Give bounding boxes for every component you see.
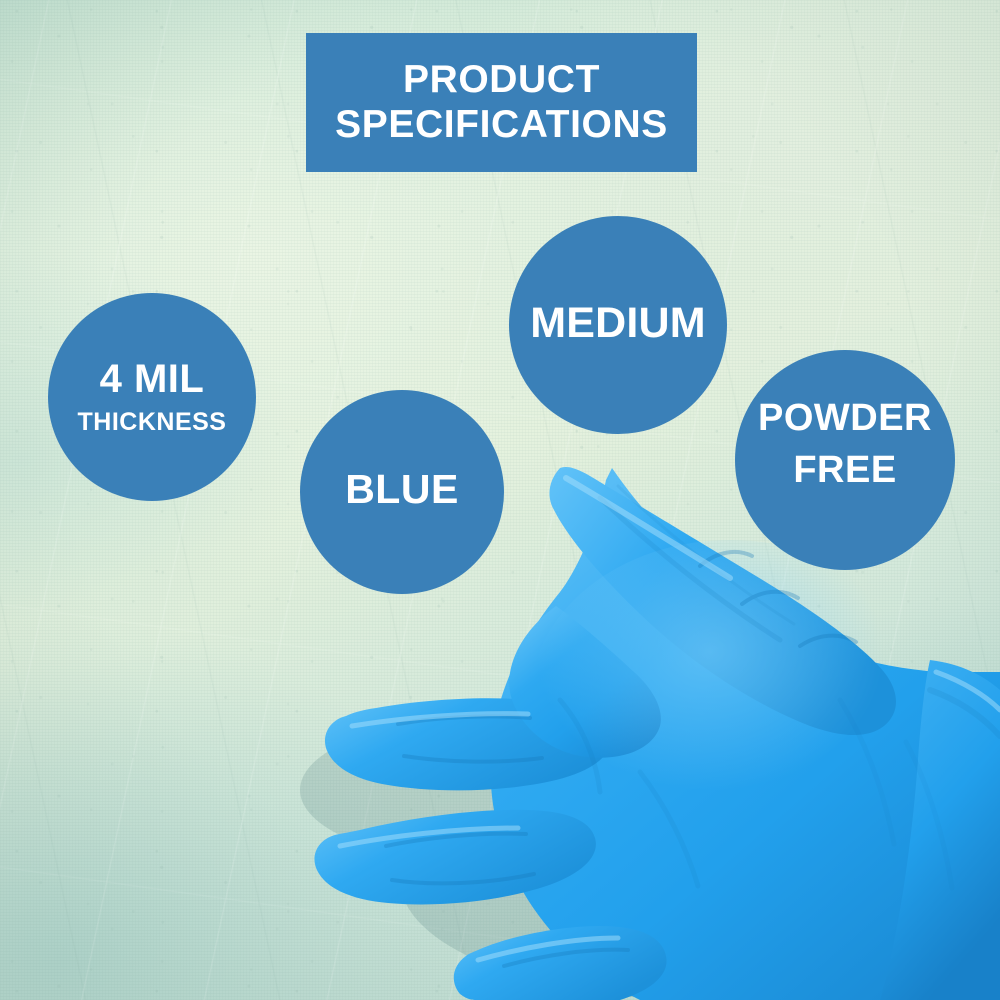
spec-powder-value-line-1: POWDER — [758, 399, 932, 437]
spec-badge-color: BLUE — [300, 390, 504, 594]
spec-badge-powder-free: POWDER FREE — [735, 350, 955, 570]
spec-badge-thickness: 4 MIL THICKNESS — [48, 293, 256, 501]
spec-thickness-value: 4 MIL — [100, 359, 205, 399]
product-specifications-poster: PRODUCT SPECIFICATIONS 4 MIL THICKNESS B… — [0, 0, 1000, 1000]
spec-size-value: MEDIUM — [530, 302, 706, 345]
title-line-1: PRODUCT — [403, 58, 600, 101]
spec-badge-size: MEDIUM — [509, 216, 727, 434]
title-banner: PRODUCT SPECIFICATIONS — [306, 33, 697, 172]
title-line-2: SPECIFICATIONS — [335, 103, 668, 146]
spec-color-value: BLUE — [345, 469, 459, 510]
spec-thickness-label: THICKNESS — [78, 410, 227, 435]
glove-palm-highlight — [530, 540, 930, 860]
spec-powder-value-line-2: FREE — [793, 451, 896, 489]
